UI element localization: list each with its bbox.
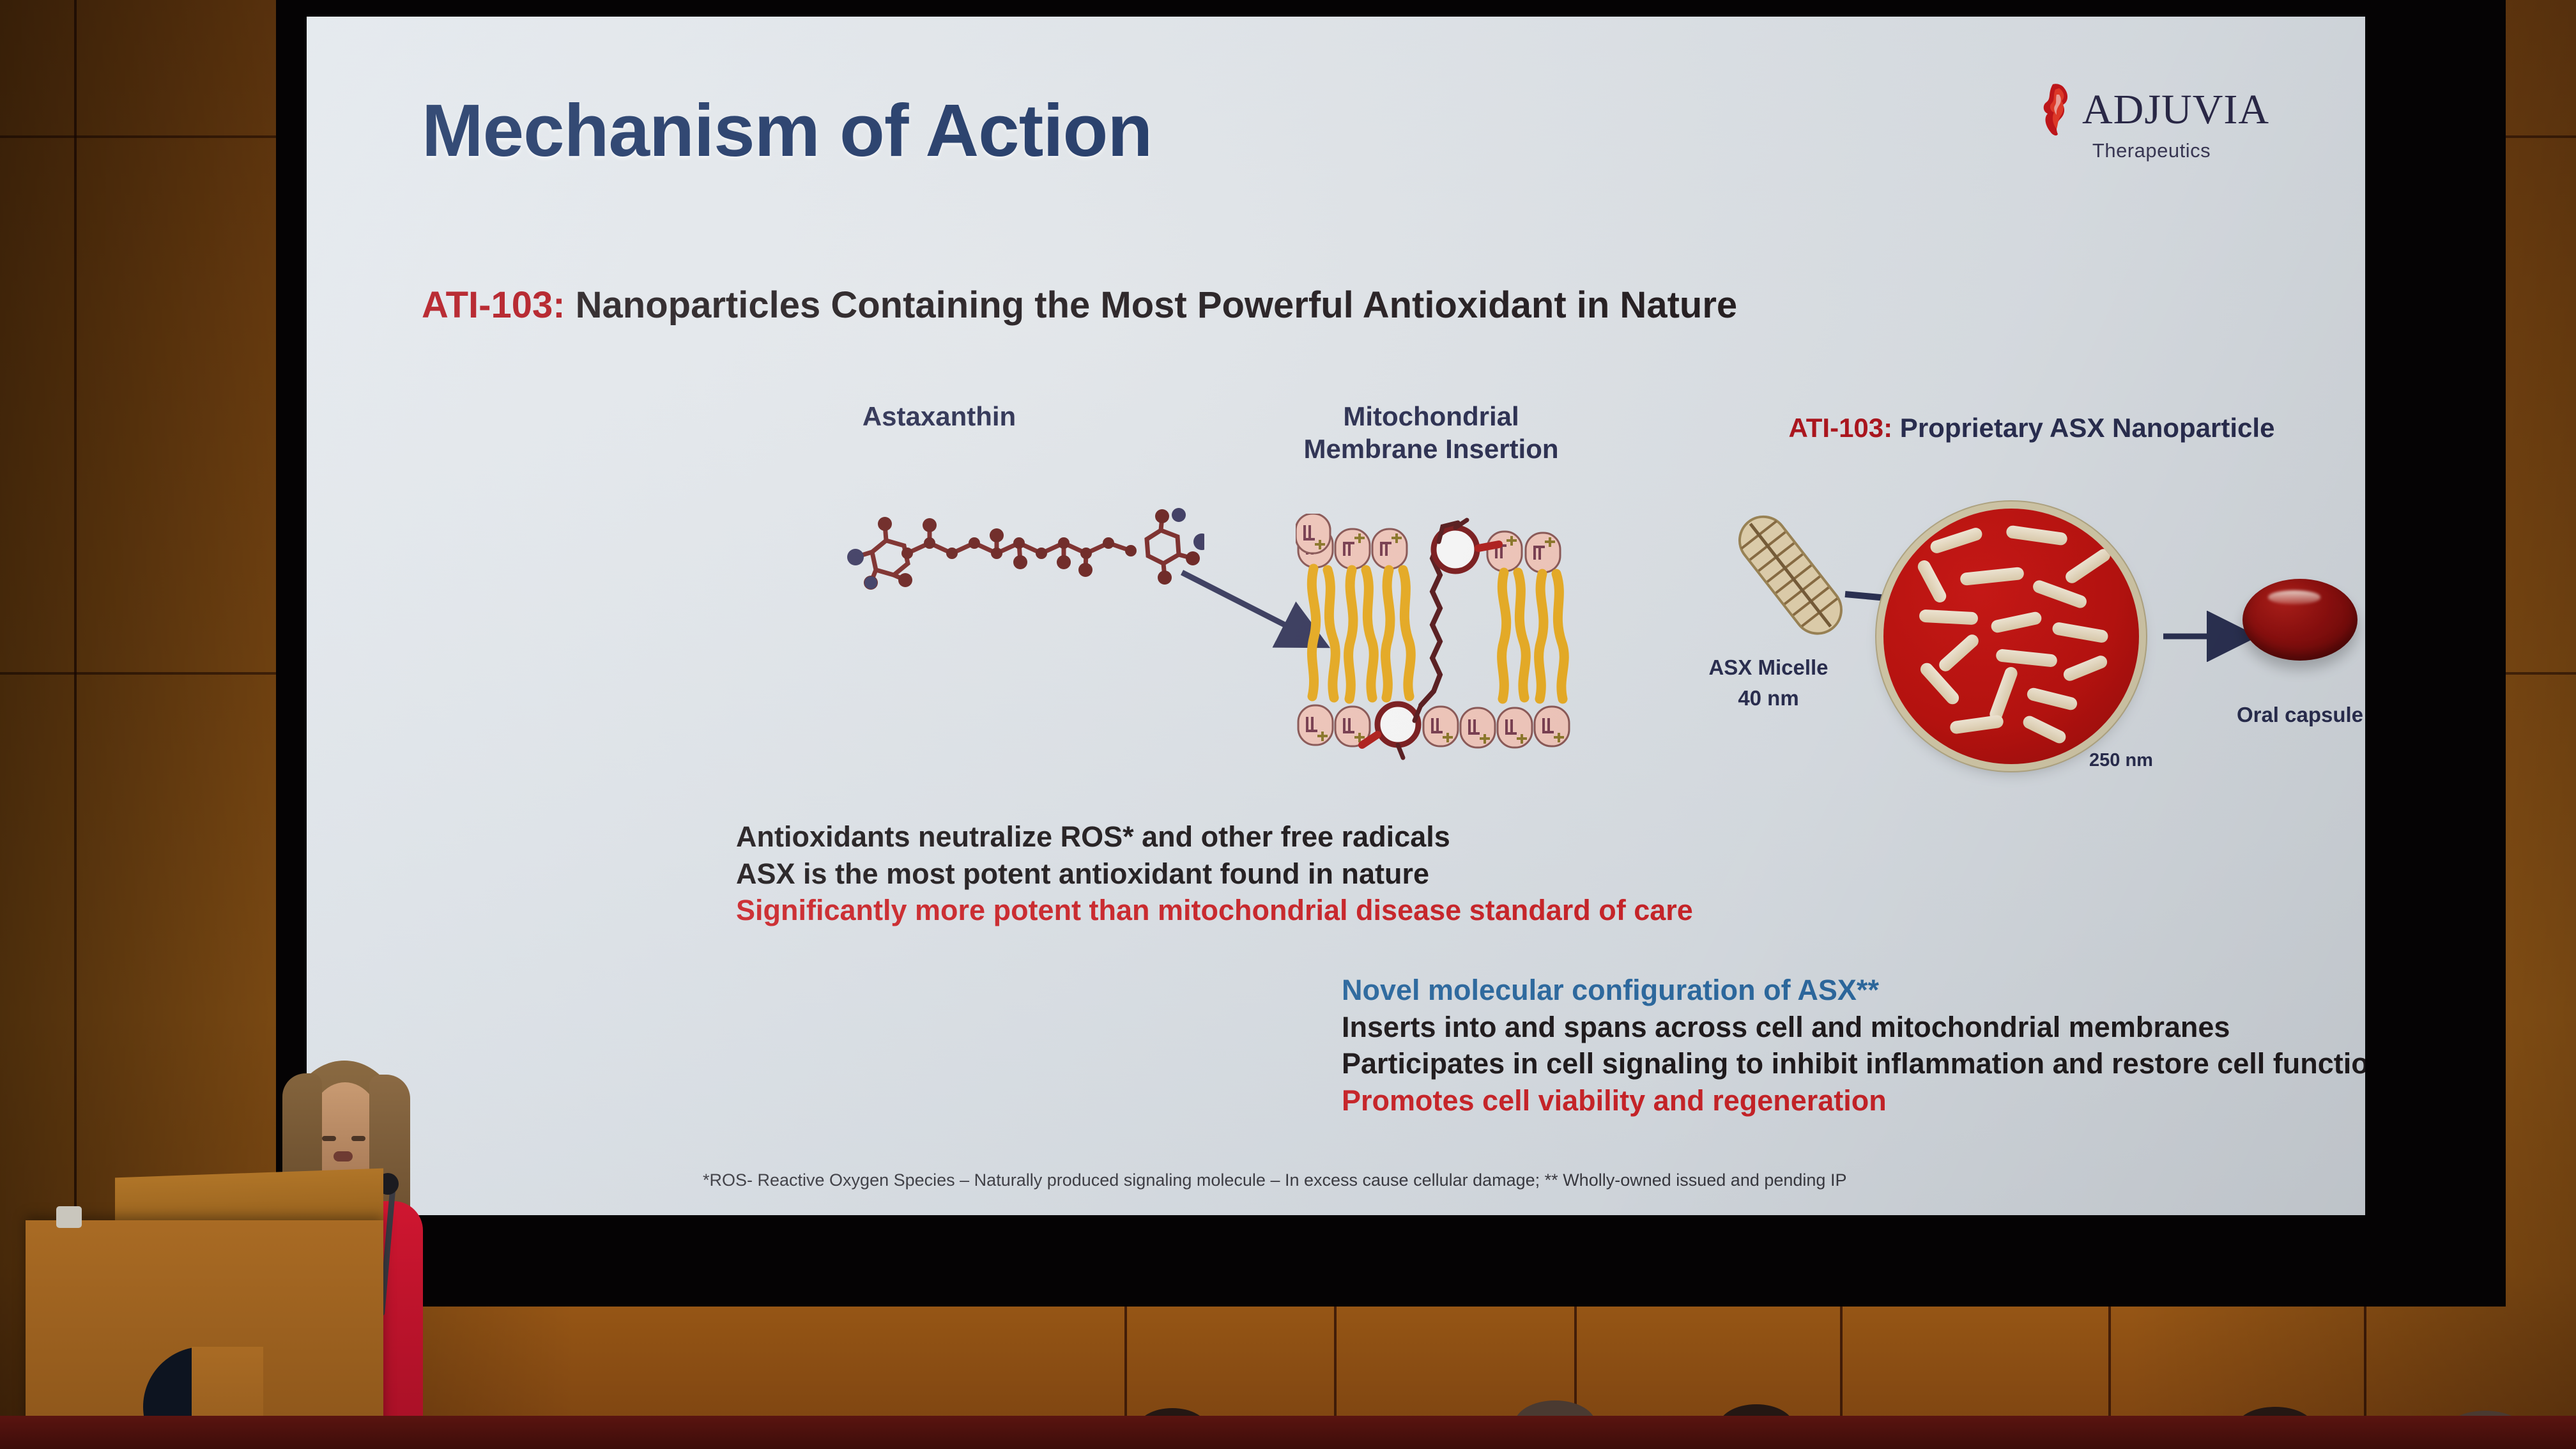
column-label-nanoparticle: ATI-103: Proprietary ASX Nanoparticle	[1687, 411, 2365, 444]
logo-tagline: Therapeutics	[2034, 139, 2269, 162]
nanoparticle-label-rest: Proprietary ASX Nanoparticle	[1892, 413, 2274, 443]
company-logo: ADJUVIA Therapeutics	[2034, 83, 2269, 162]
column-label-membrane-insertion: Mitochondrial Membrane Insertion	[1227, 400, 1636, 465]
presentation-slide: Mechanism of Action ADJUVIA Therapeutics…	[307, 17, 2365, 1215]
presenter-eye	[322, 1136, 336, 1141]
subtitle-rest: Nanoparticles Containing the Most Powerf…	[565, 284, 1738, 326]
benefits-text-block: Antioxidants neutralize ROS* and other f…	[736, 818, 1693, 929]
flame-icon	[2034, 83, 2080, 137]
mechanism-line: Inserts into and spans across cell and m…	[1342, 1009, 2365, 1046]
slide-subtitle: ATI-103: Nanoparticles Containing the Mo…	[422, 284, 1737, 326]
benefit-line-highlight: Significantly more potent than mitochond…	[736, 892, 1693, 929]
capsule-highlight	[2268, 590, 2321, 604]
astaxanthin-molecule-icon	[847, 503, 1204, 599]
mechanism-line-highlight: Promotes cell viability and regeneration	[1342, 1082, 2365, 1119]
label-asx-micelle: ASX Micelle	[1666, 654, 1871, 680]
podium-logo-cut	[192, 1347, 263, 1418]
nanoparticle-icon	[1883, 509, 2139, 764]
nanoparticle-label-accent: ATI-103:	[1789, 413, 1893, 443]
mechanism-heading: Novel molecular configuration of ASX**	[1342, 972, 2365, 1009]
lipid-bilayer-icon	[1296, 514, 1575, 768]
label-nanoparticle-size: 250 nm	[2089, 750, 2153, 771]
label-oral-capsule: Oral capsule	[2179, 701, 2365, 728]
logo-wordmark: ADJUVIA	[2082, 89, 2269, 131]
label-micelle-size: 40 nm	[1666, 685, 1871, 711]
benefit-line: ASX is the most potent antioxidant found…	[736, 855, 1693, 893]
water-cup	[56, 1206, 82, 1228]
presenter-mouth	[333, 1151, 353, 1161]
subtitle-accent: ATI-103:	[422, 284, 565, 326]
mechanism-text-block: Novel molecular configuration of ASX** I…	[1342, 972, 2365, 1119]
mechanism-line: Participates in cell signaling to inhibi…	[1342, 1045, 2365, 1082]
presenter-eye	[351, 1136, 365, 1141]
slide-footnote: *ROS- Reactive Oxygen Species – Naturall…	[703, 1170, 1846, 1190]
photo-scene: Mechanism of Action ADJUVIA Therapeutics…	[0, 0, 2576, 1449]
oral-capsule-icon	[2242, 579, 2357, 661]
membrane-label-line1: Mitochondrial	[1227, 400, 1636, 433]
column-label-astaxanthin: Astaxanthin	[805, 400, 1073, 433]
benefit-line: Antioxidants neutralize ROS* and other f…	[736, 818, 1693, 855]
page-title: Mechanism of Action	[422, 93, 1152, 167]
floor-trim	[0, 1416, 2576, 1449]
membrane-label-line2: Membrane Insertion	[1227, 433, 1636, 465]
asx-micelle-icon	[1726, 491, 1854, 657]
